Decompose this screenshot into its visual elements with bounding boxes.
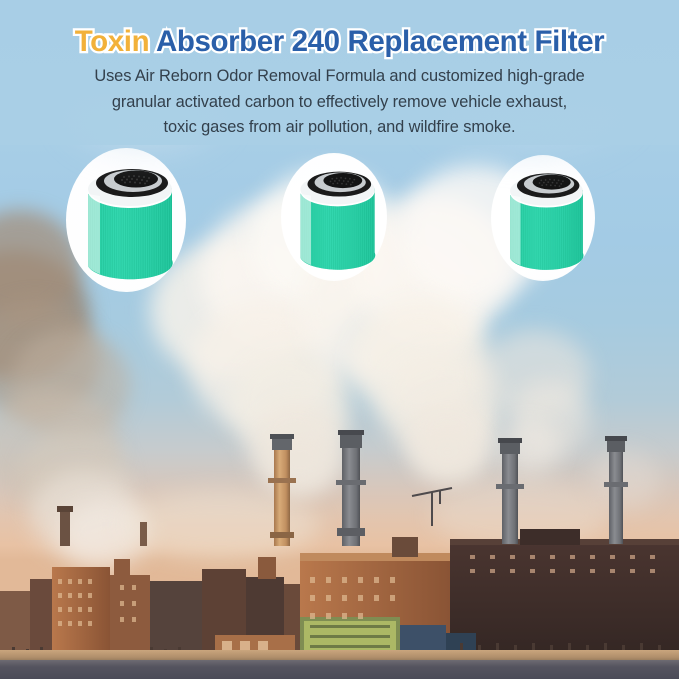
filter-clip-small [491, 155, 595, 281]
replacement-filter-icon [281, 153, 387, 281]
subtitle-line-1: Uses Air Reborn Odor Removal Formula and… [0, 64, 679, 90]
subtitle-line-3: toxic gases from air pollution, and wild… [0, 115, 679, 141]
product-circle-large [66, 148, 186, 292]
replacement-filter-icon [66, 148, 186, 292]
waterfront [0, 660, 679, 679]
filter-clip-medium [281, 153, 387, 281]
page-title: Toxin Absorber 240 Replacement Filter [0, 24, 679, 60]
product-circle-small [491, 155, 595, 281]
smokestack-group [0, 400, 679, 580]
subtitle-block: Uses Air Reborn Odor Removal Formula and… [0, 64, 679, 141]
subtitle-line-2: granular activated carbon to effectively… [0, 90, 679, 116]
title-highlight-word: Toxin [75, 25, 156, 58]
product-circle-medium [281, 153, 387, 281]
product-marketing-image: Toxin Absorber 240 Replacement Filter Us… [0, 0, 679, 679]
title-main-text: Absorber 240 Replacement Filter [156, 25, 604, 58]
replacement-filter-icon [491, 155, 595, 281]
filter-clip-large [66, 148, 186, 292]
